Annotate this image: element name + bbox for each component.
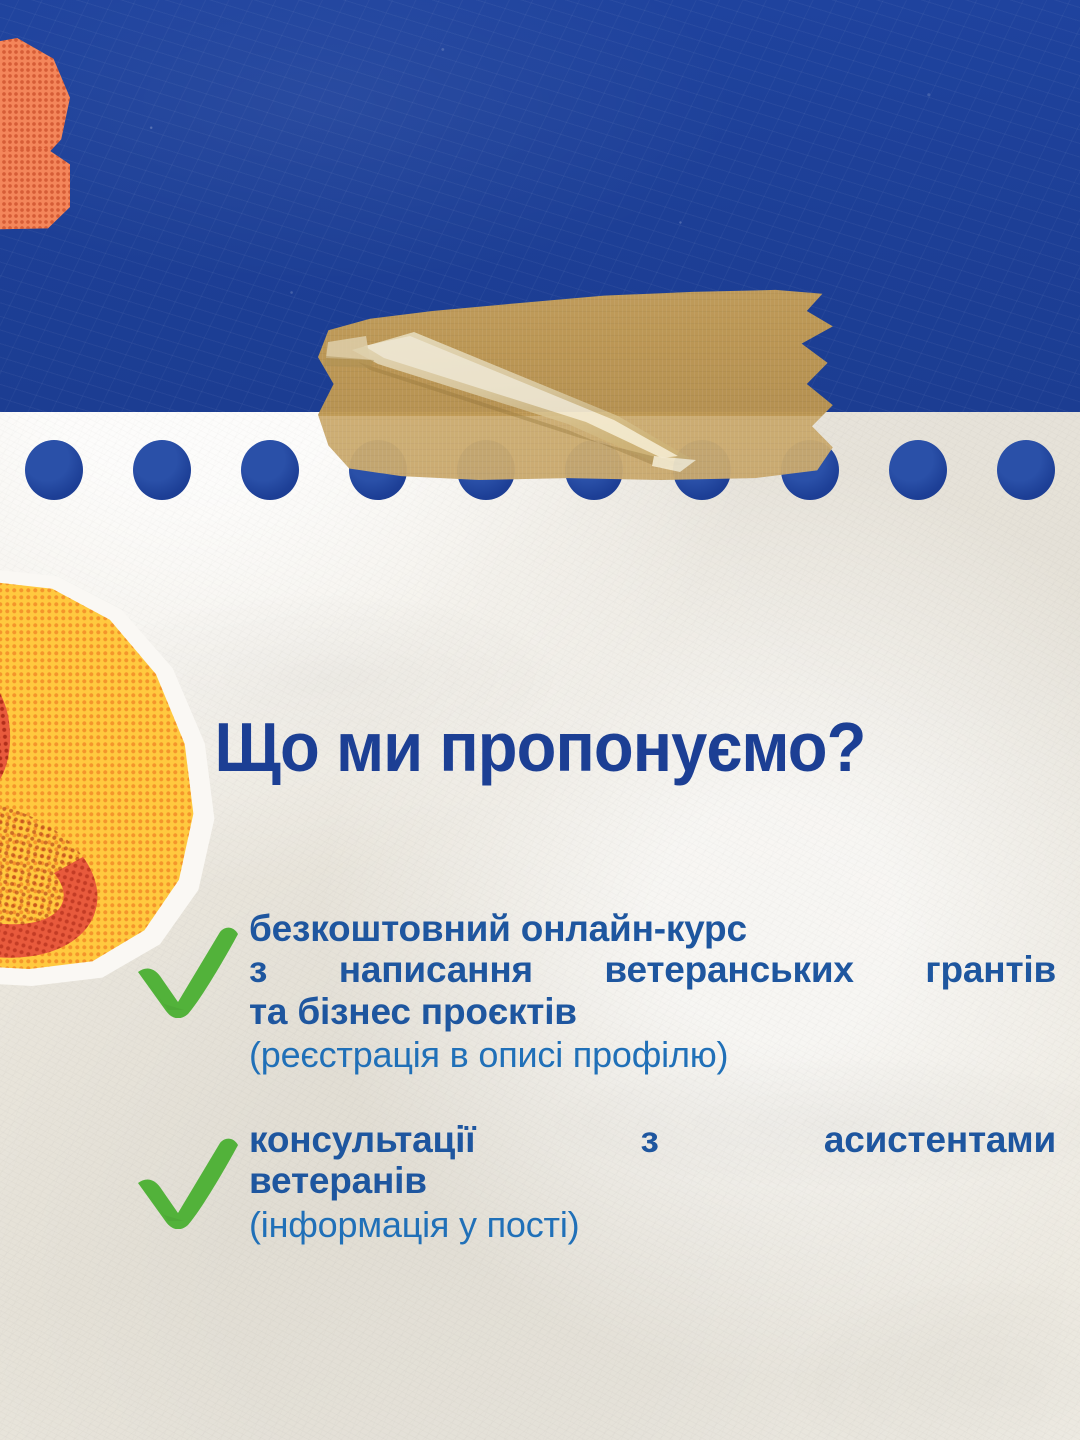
poster-canvas: Що ми пропонуємо? безкоштовний онлайн-ку…: [0, 0, 1080, 1440]
masking-tape-strip: [318, 288, 838, 480]
list-item: консультації з асистентами ветеранів (ін…: [134, 1119, 1056, 1246]
list-item-main-text: консультації з асистентами ветеранів: [249, 1119, 1056, 1202]
perforation-dot: [889, 440, 947, 500]
list-item-main-text: безкоштовний онлайн-курс з написання вет…: [249, 908, 1056, 1032]
page-title: Що ми пропонуємо?: [38, 712, 1042, 782]
list-item-line: безкоштовний онлайн-курс: [249, 908, 1056, 949]
perforation-dot: [133, 440, 191, 500]
list-item-note: (інформація у пості): [249, 1204, 1056, 1246]
list-item-line: з написання ветеранських грантів: [249, 949, 1056, 990]
perforation-dot: [241, 440, 299, 500]
perforation-dot: [25, 440, 83, 500]
tape-fold-crease-icon: [318, 288, 838, 480]
list-item: безкоштовний онлайн-курс з написання вет…: [134, 908, 1056, 1077]
list-item-line: консультації з асистентами: [249, 1119, 1056, 1160]
green-check-icon: [134, 1137, 242, 1229]
offer-list: безкоштовний онлайн-курс з написання вет…: [134, 908, 1056, 1288]
green-check-icon: [134, 926, 242, 1018]
list-item-line: та бізнес проєктів: [249, 991, 1056, 1032]
perforation-dot: [997, 440, 1055, 500]
list-item-line: ветеранів: [249, 1160, 1056, 1201]
list-item-note: (реєстрація в описі профілю): [249, 1034, 1056, 1076]
